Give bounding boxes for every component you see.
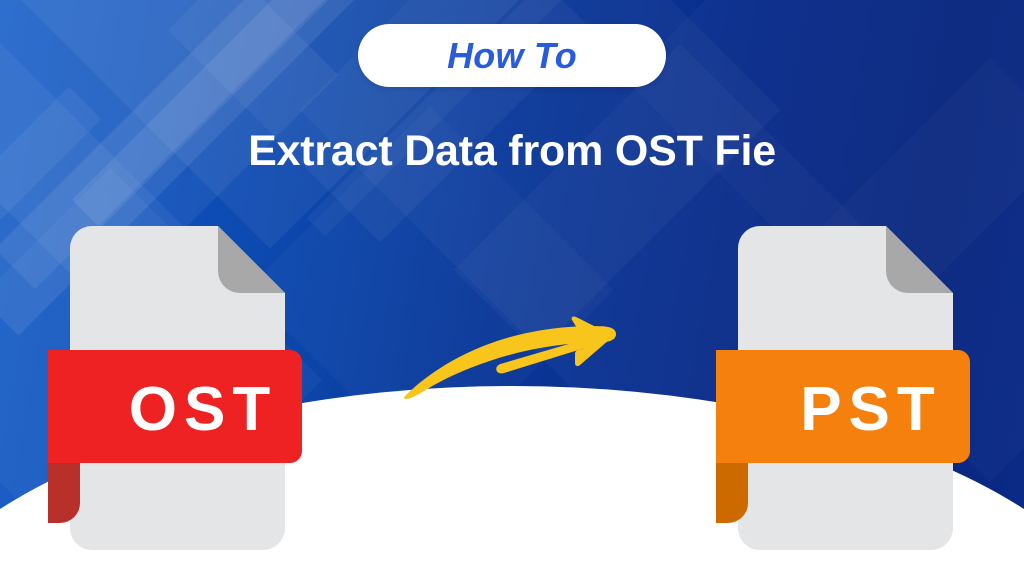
- extension-band: [48, 350, 302, 463]
- page-title: Extract Data from OST Fie: [0, 127, 1024, 176]
- band-fold-tab: [716, 463, 748, 523]
- arrow-icon: [390, 295, 620, 410]
- pst-file-icon: PST: [716, 218, 1016, 558]
- pst-file-shape: [716, 218, 1016, 558]
- how-to-badge-label: How To: [447, 35, 577, 77]
- how-to-badge: How To: [358, 24, 666, 87]
- ost-file-shape: [48, 218, 348, 558]
- ost-file-icon: OST: [48, 218, 348, 558]
- document-corner-fold: [886, 226, 953, 293]
- extension-band: [716, 350, 970, 463]
- document-corner-fold: [218, 226, 285, 293]
- how-to-banner-graphic: How To Extract Data from OST Fie OST: [0, 0, 1024, 576]
- band-fold-tab: [48, 463, 80, 523]
- curved-conversion-arrow: [390, 295, 620, 410]
